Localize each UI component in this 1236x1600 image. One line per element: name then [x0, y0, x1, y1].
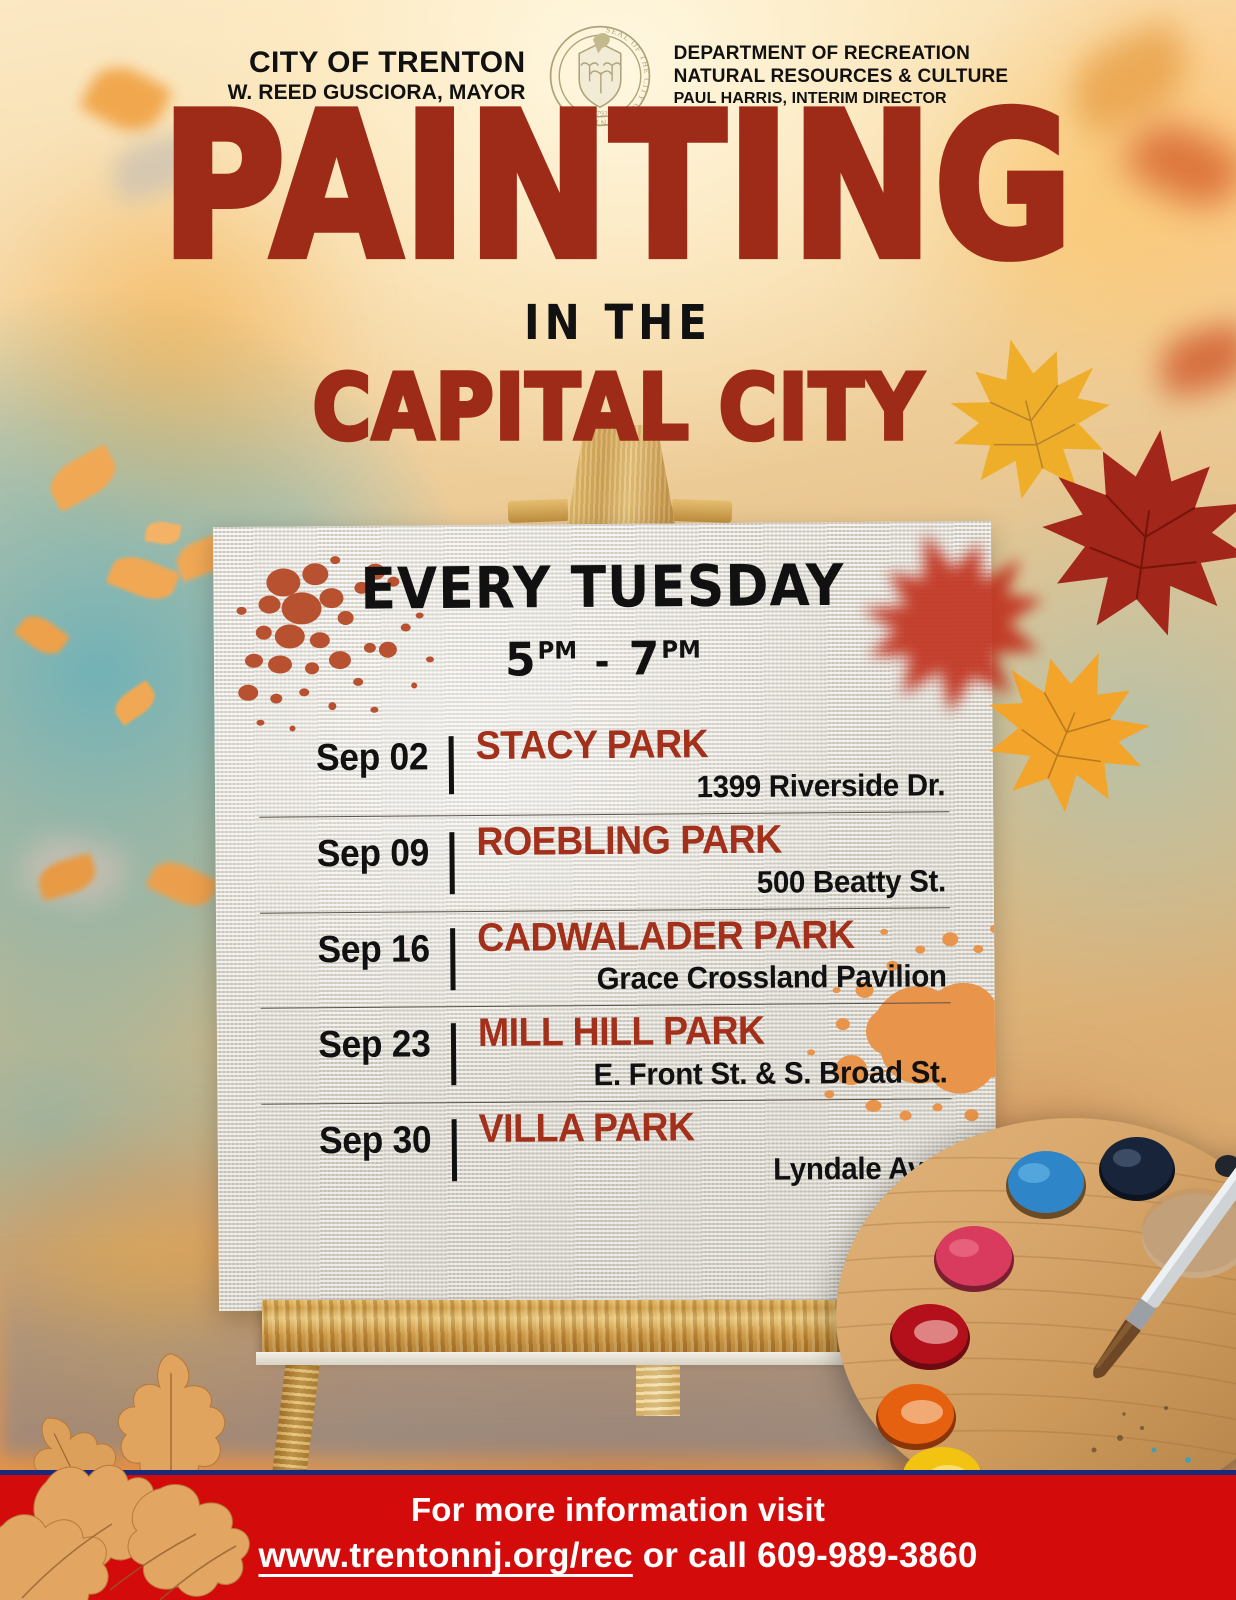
schedule-date: Sep 30	[275, 1109, 452, 1163]
time-end-meridiem: PM	[661, 637, 701, 665]
schedule-row: Sep 16CADWALADER PARKGrace Crossland Pav…	[260, 907, 951, 1008]
time-end: 7	[629, 632, 662, 686]
schedule-park-name: ROEBLING PARK	[476, 818, 921, 862]
phone-number[interactable]: 609-989-3860	[757, 1536, 977, 1575]
time-dash: -	[594, 640, 611, 684]
time-start-meridiem: PM	[537, 637, 577, 665]
easel-arm-right	[672, 499, 733, 523]
schedule-park-name: MILL HILL PARK	[478, 1010, 923, 1054]
schedule-date: Sep 23	[274, 1014, 451, 1068]
footer-banner: For more information visit www.trentonnj…	[0, 1470, 1236, 1600]
easel-arm-left	[508, 499, 569, 523]
footer-mid-text: or call	[633, 1536, 757, 1575]
department-line-1: DEPARTMENT OF RECREATION	[674, 43, 1009, 65]
schedule-row: Sep 09ROEBLING PARK500 Beatty St.	[259, 811, 950, 912]
schedule-body: CADWALADER PARKGrace Crossland Pavilion	[477, 914, 951, 999]
schedule-row: Sep 02STACY PARK1399 Riverside Dr.	[258, 716, 949, 816]
footer-line-2: www.trentonnj.org/rec or call 609-989-38…	[0, 1536, 1236, 1576]
schedule-park-name: STACY PARK	[476, 723, 921, 767]
schedule-date: Sep 02	[272, 726, 449, 780]
easel-leg-center	[636, 1360, 680, 1416]
footer-content: For more information visit www.trentonnj…	[0, 1475, 1236, 1576]
paint-palette-illustration	[824, 1078, 1236, 1508]
schedule-divider-bar	[449, 832, 454, 894]
title-block: PAINTING IN THE CAPITAL CITY	[0, 112, 1236, 454]
time-start: 5	[505, 633, 538, 687]
title-subtitle: CAPITAL CITY	[0, 356, 1236, 460]
schedule-divider-bar	[450, 928, 455, 990]
schedule-divider-bar	[449, 736, 454, 794]
schedule-address: Grace Crossland Pavilion	[501, 959, 951, 999]
flyer-poster: EVERY TUESDAY 5PM - 7PM Sep 02STACY PARK…	[0, 0, 1236, 1600]
schedule-park-name: CADWALADER PARK	[477, 914, 922, 958]
time-range: 5PM - 7PM	[258, 630, 948, 689]
page-title: PAINTING	[0, 102, 1236, 272]
website-link[interactable]: www.trentonnj.org/rec	[258, 1536, 632, 1575]
schedule-divider-bar	[451, 1024, 456, 1086]
schedule-date: Sep 09	[273, 822, 450, 876]
schedule-divider-bar	[452, 1119, 457, 1181]
title-connector: IN THE	[0, 295, 1236, 351]
footer-line-1: For more information visit	[0, 1491, 1236, 1529]
schedule-address: 500 Beatty St.	[500, 863, 950, 903]
schedule-body: ROEBLING PARK500 Beatty St.	[476, 818, 950, 903]
schedule-date: Sep 16	[273, 918, 450, 972]
schedule-address: 1399 Riverside Dr.	[500, 767, 950, 807]
